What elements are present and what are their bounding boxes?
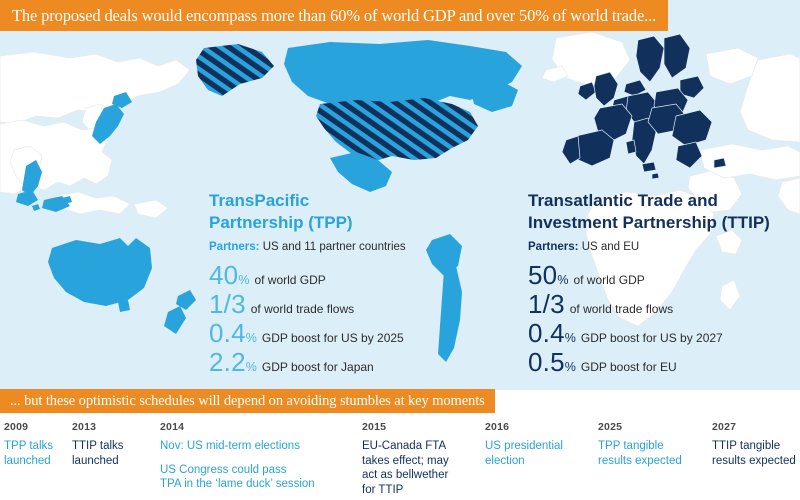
country-tasmania <box>118 300 130 312</box>
ttip-partners-value: US and EU <box>582 241 640 253</box>
timeline-event-2013-0: TTIP talks launched <box>72 439 140 468</box>
country-italy-sardinia <box>626 140 636 154</box>
timeline-column-2015: 2015 EU-Canada FTA takes effect; may act… <box>362 421 477 500</box>
tpp-stat-gdp-share-unit: % <box>238 274 249 287</box>
tpp-partners-row: Partners: US and 11 partner countries <box>209 240 504 255</box>
tpp-stat-gdp-share-number: 40 <box>209 262 238 288</box>
timeline-event-2009-0: TPP talks launched <box>4 439 66 468</box>
tpp-stat-japan-boost: 2.2 % GDP boost for Japan <box>209 349 504 375</box>
ttip-stat-eu-boost-number: 0.5 <box>528 349 565 375</box>
timeline-event-2016-0: US presidential election <box>485 439 590 468</box>
ttip-stat-trade-share: 1/3 of world trade flows <box>528 291 800 317</box>
top-headline-banner: The proposed deals would encompass more … <box>0 0 668 31</box>
ttip-stat-gdp-share-number: 50 <box>528 262 557 288</box>
country-malta <box>652 173 659 179</box>
ttip-stat-us-boost-label: GDP boost for US by 2027 <box>581 332 723 344</box>
tpp-stat-trade-share: 1/3 of world trade flows <box>209 291 504 317</box>
country-italy-sicily <box>642 162 656 172</box>
ttip-stat-gdp-share: 50 % of world GDP <box>528 262 800 288</box>
ttip-stat-trade-share-label: of world trade flows <box>570 303 673 315</box>
ttip-stat-eu-boost-label: GDP boost for EU <box>581 361 677 373</box>
ttip-stat-us-boost: 0.4 % GDP boost for US by 2027 <box>528 320 800 346</box>
timeline: 2009 TPP talks launched 2013 TTIP talks … <box>0 413 800 500</box>
ttip-partners-label: Partners: <box>528 241 579 253</box>
tpp-partners-label: Partners: <box>209 241 260 253</box>
tpp-stat-us-boost-unit: % <box>246 332 257 345</box>
tpp-stat-japan-boost-label: GDP boost for Japan <box>262 361 374 373</box>
timeline-year-2015: 2015 <box>362 421 477 433</box>
tpp-stat-us-boost-label: GDP boost for US by 2025 <box>262 332 404 344</box>
ttip-stat-gdp-share-unit: % <box>557 274 568 287</box>
timeline-column-2009: 2009 TPP talks launched <box>4 421 66 477</box>
timeline-year-2014: 2014 <box>160 421 350 433</box>
tpp-stat-us-boost: 0.4 % GDP boost for US by 2025 <box>209 320 504 346</box>
timeline-year-2027: 2027 <box>712 421 800 433</box>
ttip-stat-us-boost-unit: % <box>565 332 576 345</box>
ttip-partners-row: Partners: US and EU <box>528 240 800 255</box>
deal-block-tpp: TransPacific Partnership (TPP) Partners:… <box>209 190 504 378</box>
ttip-title: Transatlantic Trade and Investment Partn… <box>528 190 800 234</box>
tpp-stat-gdp-share-label: of world GDP <box>254 274 325 286</box>
tpp-stat-japan-boost-number: 2.2 <box>209 349 246 375</box>
tpp-stat-japan-boost-unit: % <box>246 361 257 374</box>
ttip-stat-gdp-share-label: of world GDP <box>573 274 644 286</box>
tpp-partners-value: US and 11 partner countries <box>263 241 406 253</box>
timeline-event-2025-0: TPP tangible results expected <box>598 439 708 468</box>
timeline-column-2014: 2014 Nov: US mid-term elections US Congr… <box>160 421 350 500</box>
ttip-stat-eu-boost: 0.5 % GDP boost for EU <box>528 349 800 375</box>
infographic-root: The proposed deals would encompass more … <box>0 0 800 500</box>
tpp-stat-trade-share-label: of world trade flows <box>251 303 354 315</box>
timeline-column-2016: 2016 US presidential election <box>485 421 590 477</box>
timeline-event-2014-0: Nov: US mid-term elections <box>160 439 350 454</box>
timeline-year-2013: 2013 <box>72 421 140 433</box>
timeline-year-2016: 2016 <box>485 421 590 433</box>
ttip-stat-us-boost-number: 0.4 <box>528 320 565 346</box>
timeline-event-2014-1: US Congress could pass TPA in the ‘lame … <box>160 463 350 492</box>
bottom-headline-banner: ... but these optimistic schedules will … <box>0 389 495 413</box>
timeline-year-2025: 2025 <box>598 421 708 433</box>
timeline-year-2009: 2009 <box>4 421 66 433</box>
timeline-column-2013: 2013 TTIP talks launched <box>72 421 140 477</box>
timeline-event-2027-0: TTIP tangible results expected <box>712 439 800 468</box>
timeline-column-2025: 2025 TPP tangible results expected <box>598 421 708 477</box>
tpp-stat-gdp-share: 40 % of world GDP <box>209 262 504 288</box>
country-cyprus <box>714 158 726 168</box>
tpp-stat-trade-share-number: 1/3 <box>209 291 246 317</box>
top-headline-text: The proposed deals would encompass more … <box>12 6 656 26</box>
deal-block-ttip: Transatlantic Trade and Investment Partn… <box>528 190 800 378</box>
bottom-headline-text: ... but these optimistic schedules will … <box>10 393 485 410</box>
timeline-column-2027: 2027 TTIP tangible results expected <box>712 421 800 477</box>
ttip-stat-trade-share-number: 1/3 <box>528 291 565 317</box>
tpp-title: TransPacific Partnership (TPP) <box>209 190 504 234</box>
tpp-stat-us-boost-number: 0.4 <box>209 320 246 346</box>
ttip-stat-eu-boost-unit: % <box>565 361 576 374</box>
timeline-event-2015-0: EU-Canada FTA takes effect; may act as b… <box>362 439 477 497</box>
